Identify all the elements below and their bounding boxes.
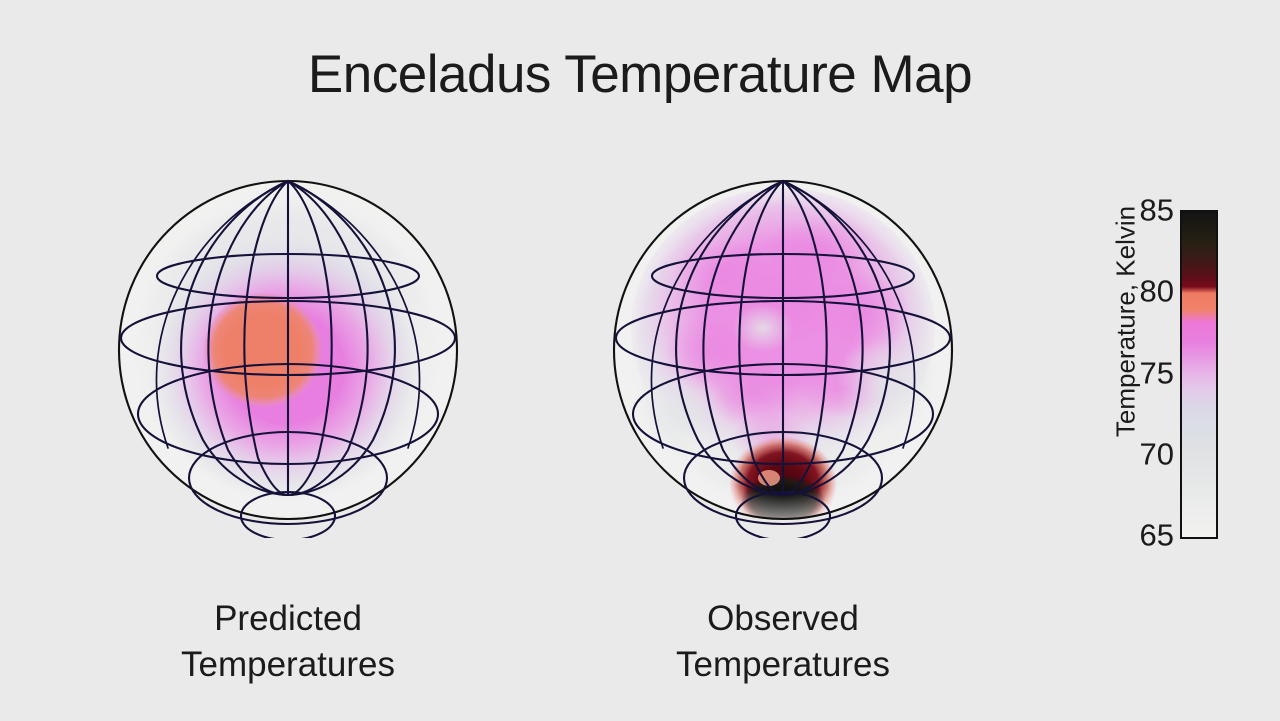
caption-observed-line2: Temperatures [603, 642, 963, 688]
caption-observed: Observed Temperatures [603, 596, 963, 688]
colorbar-tick-80: 80 [1112, 276, 1174, 307]
colorbar-tick-85: 85 [1112, 195, 1174, 226]
globe-predicted [108, 178, 468, 538]
colorbar-tick-65: 65 [1112, 520, 1174, 551]
caption-predicted-line2: Temperatures [108, 642, 468, 688]
page-title: Enceladus Temperature Map [0, 48, 1280, 101]
colorbar-gradient-bar [1180, 210, 1218, 539]
globe-panel-observed: Observed Temperatures [603, 178, 963, 543]
caption-predicted-line1: Predicted [108, 596, 468, 642]
colorbar-tick-labels: 8580757065 [1112, 196, 1174, 541]
colorbar-legend: Temperature, Kelvin 8580757065 [1068, 196, 1228, 556]
visualization-canvas: Enceladus Temperature Map [0, 0, 1280, 721]
colorbar-tick-75: 75 [1112, 357, 1174, 388]
colorbar-tick-70: 70 [1112, 438, 1174, 469]
caption-observed-line1: Observed [603, 596, 963, 642]
globe-panel-predicted: Predicted Temperatures [108, 178, 468, 543]
caption-predicted: Predicted Temperatures [108, 596, 468, 688]
globe-observed [603, 178, 963, 538]
